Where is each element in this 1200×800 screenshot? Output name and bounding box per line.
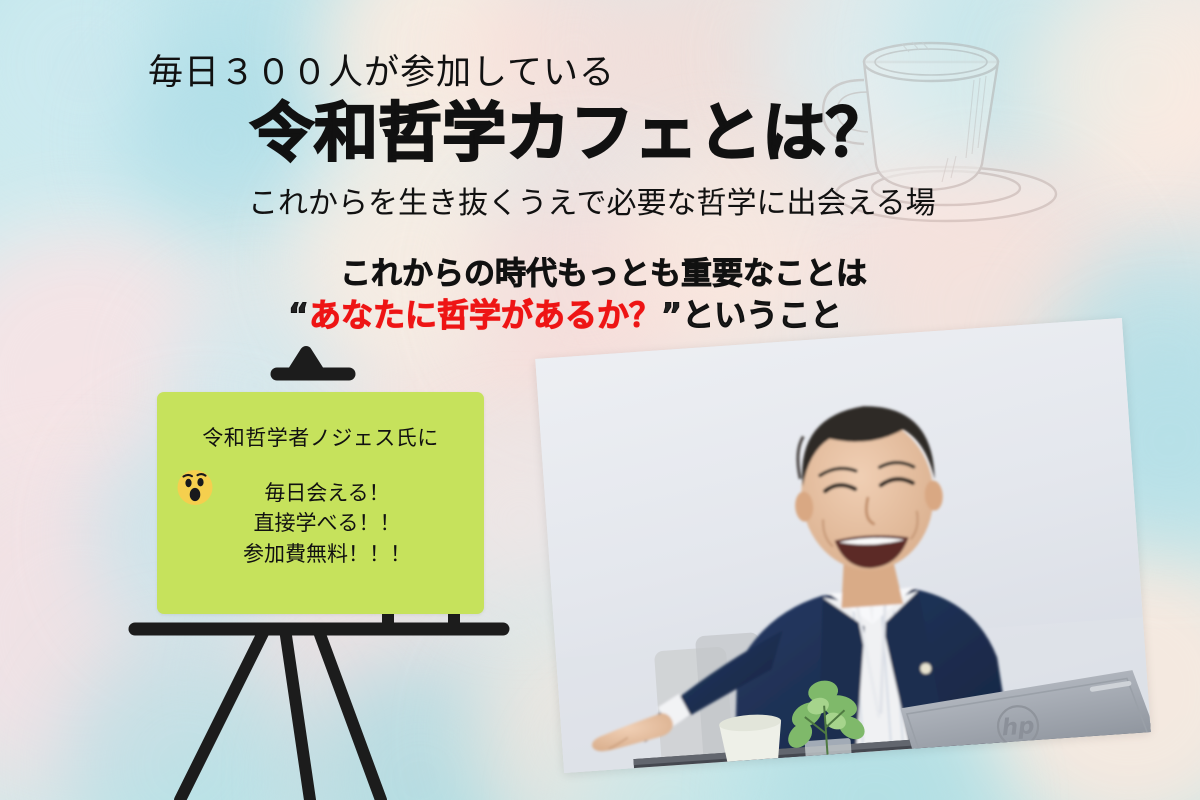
board-heading: 令和哲学者ノジェス氏に	[157, 422, 484, 452]
green-board-panel: 令和哲学者ノジェス氏に 毎日会える！ 直接学べる！！ 参加費無料！！！	[157, 392, 484, 614]
board-benefit-list: 毎日会える！ 直接学べる！！ 参加費無料！！！	[197, 478, 457, 569]
list-item: 直接学べる！！	[197, 508, 457, 538]
list-item: 毎日会える！	[197, 478, 457, 508]
pitch-tail: ということ	[682, 296, 842, 334]
page-title: 令和哲学カフェとは？	[250, 82, 890, 174]
speaker-photo: hp	[535, 318, 1151, 773]
svg-text:hp: hp	[1001, 713, 1036, 741]
bokeh-circle	[300, 660, 540, 800]
quote-open: “	[288, 296, 309, 334]
headline-block: 毎日３００人が参加している 令和哲学カフェとは？ これからを生き抜くうえで必要な…	[0, 0, 1200, 340]
pitch-line-1: これからの時代もっとも重要なことは	[340, 248, 867, 293]
photo-image: hp	[535, 318, 1151, 773]
bokeh-circle	[60, 640, 310, 800]
quote-text: あなたに哲学があるか？	[309, 296, 661, 334]
list-item: 参加費無料！！！	[197, 539, 457, 569]
subtitle-text: これからを生き抜くうえで必要な哲学に出会える場	[248, 178, 936, 222]
banner-canvas: 毎日３００人が参加している 令和哲学カフェとは？ これからを生き抜くうえで必要な…	[0, 0, 1200, 800]
quote-close: ”	[661, 296, 682, 334]
pitch-line-2: “あなたに哲学があるか？”ということ	[288, 290, 842, 336]
